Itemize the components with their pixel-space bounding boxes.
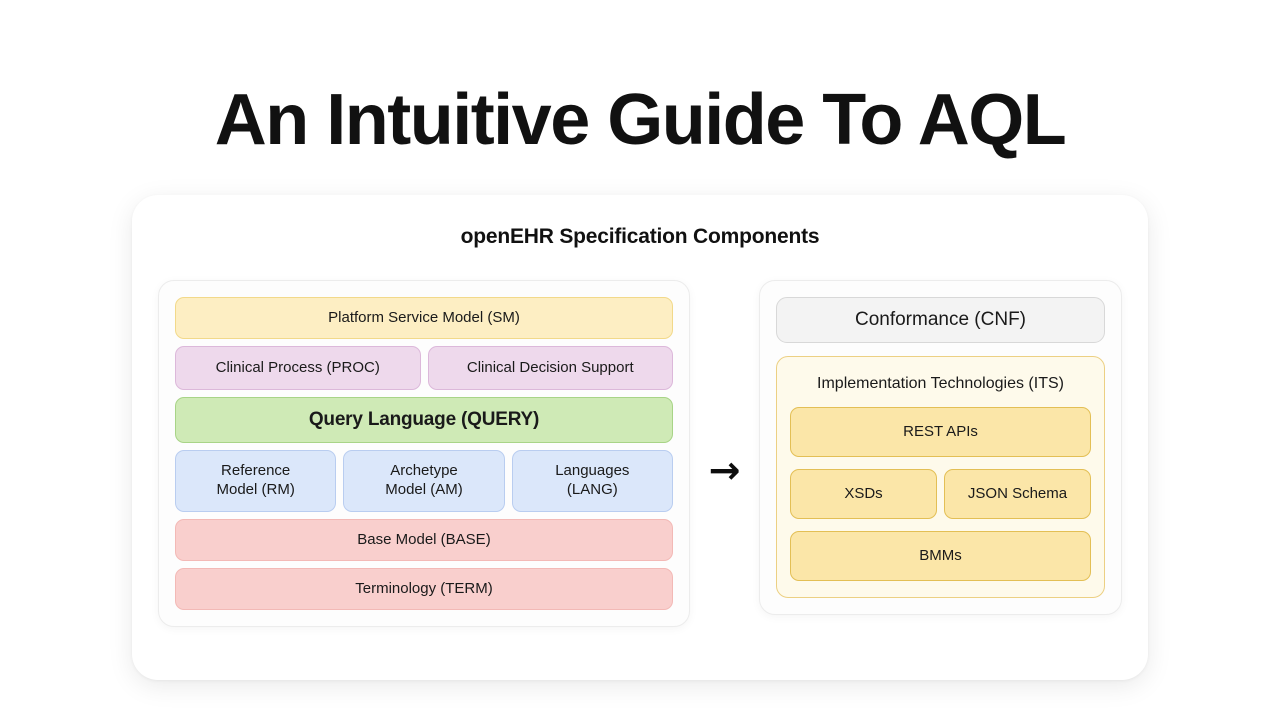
json-schema-box[interactable]: JSON Schema [944, 469, 1091, 519]
implementation-technologies-group: Implementation Technologies (ITS) REST A… [776, 356, 1105, 598]
flow-arrow-cell: → [690, 280, 759, 660]
clinical-decision-support-box[interactable]: Clinical Decision Support [428, 346, 674, 390]
query-language-box[interactable]: Query Language (QUERY) [175, 397, 673, 443]
clinical-row: Clinical Process (PROC) Clinical Decisio… [175, 346, 673, 390]
xsds-box[interactable]: XSDs [790, 469, 937, 519]
conformance-box[interactable]: Conformance (CNF) [776, 297, 1105, 343]
terminology-box[interactable]: Terminology (TERM) [175, 568, 673, 610]
implementation-technologies-title: Implementation Technologies (ITS) [790, 371, 1091, 395]
bmms-box[interactable]: BMMs [790, 531, 1091, 581]
languages-box[interactable]: Languages (LANG) [512, 450, 673, 512]
page-title: An Intuitive Guide To AQL [0, 78, 1280, 162]
rest-apis-box[interactable]: REST APIs [790, 407, 1091, 457]
platform-service-model-box[interactable]: Platform Service Model (SM) [175, 297, 673, 339]
reference-model-box[interactable]: Reference Model (RM) [175, 450, 336, 512]
arrow-right-icon: → [709, 451, 741, 489]
schema-row: XSDs JSON Schema [790, 469, 1091, 519]
implementation-panel: Conformance (CNF) Implementation Technol… [759, 280, 1122, 615]
slide-root: An Intuitive Guide To AQL openEHR Specif… [0, 0, 1280, 720]
archetype-model-box[interactable]: Archetype Model (AM) [343, 450, 504, 512]
panels-container: Platform Service Model (SM) Clinical Pro… [158, 280, 1122, 660]
models-row: Reference Model (RM) Archetype Model (AM… [175, 450, 673, 512]
its-items-list: REST APIs XSDs JSON Schema BMMs [790, 407, 1091, 581]
clinical-process-box[interactable]: Clinical Process (PROC) [175, 346, 421, 390]
openehr-components-panel: Platform Service Model (SM) Clinical Pro… [158, 280, 690, 627]
diagram-heading: openEHR Specification Components [132, 225, 1148, 249]
diagram-card: openEHR Specification Components Platfor… [132, 195, 1148, 680]
base-model-box[interactable]: Base Model (BASE) [175, 519, 673, 561]
